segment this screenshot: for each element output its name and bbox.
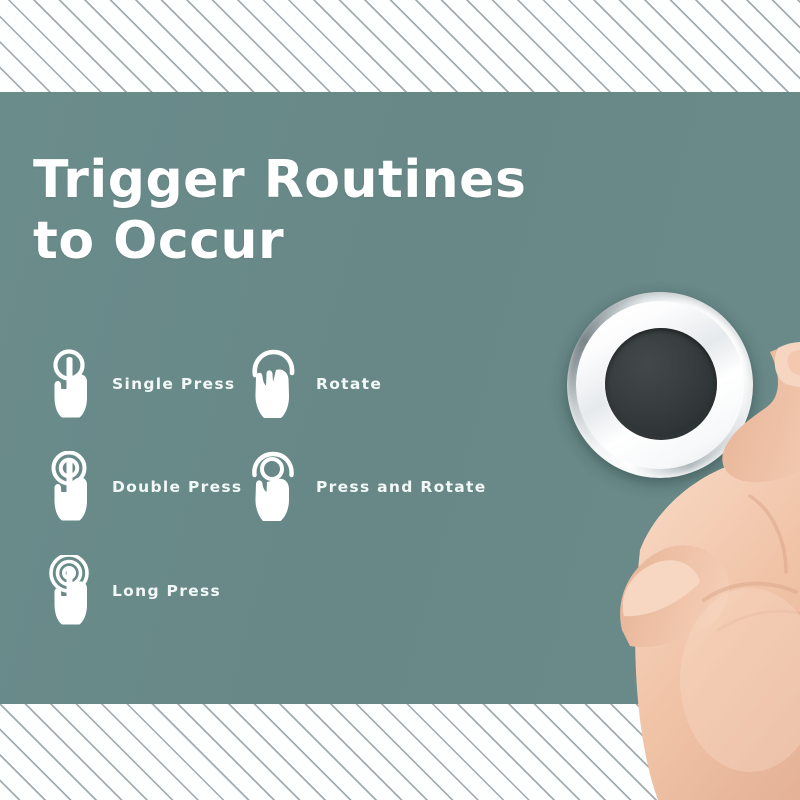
gesture-label: Press and Rotate [316, 478, 487, 496]
screenshot-stage: Trigger Routines to Occur Single Press [0, 0, 800, 800]
gesture-item-rotate[interactable]: Rotate [246, 348, 382, 420]
gesture-item-double-press[interactable]: Double Press [42, 451, 242, 523]
gesture-label: Double Press [112, 478, 242, 496]
gesture-list: Single Press Double Press [0, 92, 520, 704]
gesture-label: Rotate [316, 375, 382, 393]
hand-press-rotate-icon [246, 451, 304, 523]
rotary-smart-knob[interactable] [567, 292, 753, 478]
hand-long-press-icon [42, 555, 100, 627]
gesture-item-press-and-rotate[interactable]: Press and Rotate [246, 451, 487, 523]
hand-single-tap-icon [42, 348, 100, 420]
knob-face [605, 328, 717, 440]
gesture-label: Single Press [112, 375, 235, 393]
gesture-item-long-press[interactable]: Long Press [42, 555, 221, 627]
gesture-label: Long Press [112, 582, 221, 600]
hand-double-tap-icon [42, 451, 100, 523]
gesture-item-single-press[interactable]: Single Press [42, 348, 235, 420]
hand-rotate-icon [246, 348, 304, 420]
